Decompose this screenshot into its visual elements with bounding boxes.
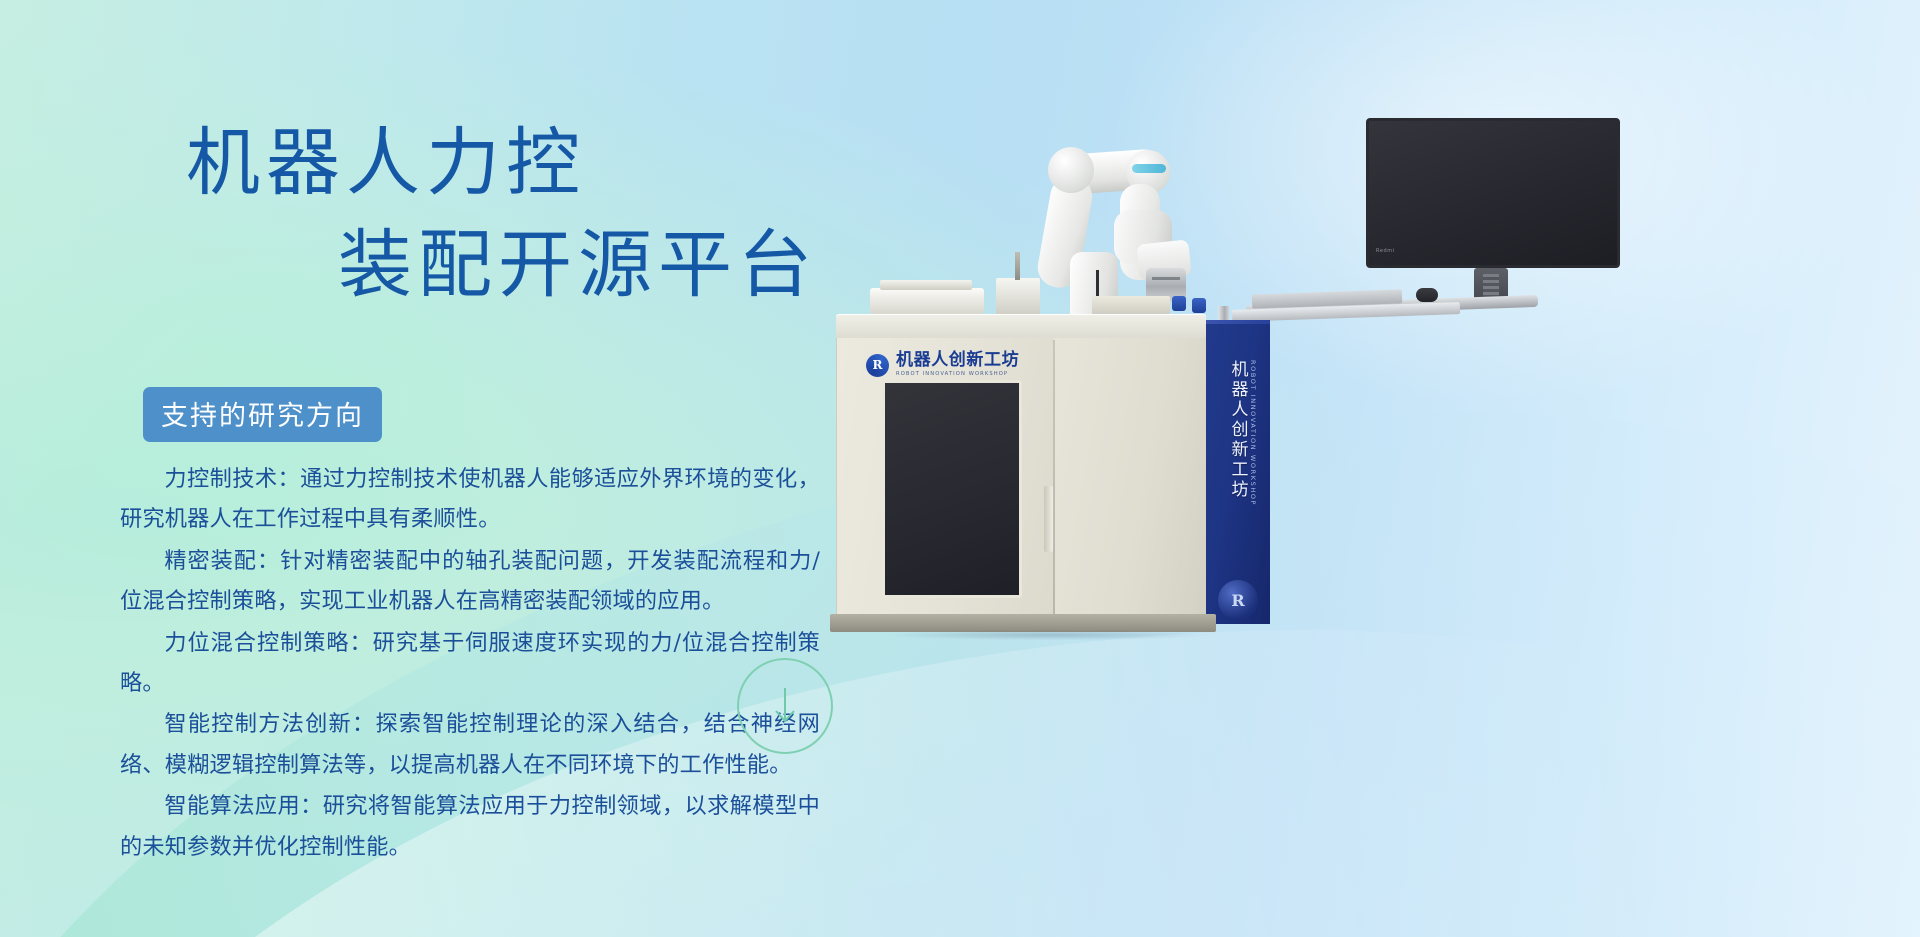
worktop-knob-1 [1172, 296, 1186, 311]
arrow-down-icon [770, 684, 800, 728]
brand-name-cn: 机器人创新工坊 [896, 352, 1019, 369]
headline-line-1: 机器人力控 [186, 112, 946, 214]
cabinet-brand-plate: R 机器人创新工坊 ROBOT INNOVATION WORKSHOP [866, 348, 1041, 382]
research-direction-item-2: 精密装配：针对精密装配中的轴孔装配问题，开发装配流程和力/位混合控制策略，实现工… [120, 541, 820, 622]
monitor-screen [1366, 118, 1620, 268]
cabinet-viewing-window [882, 380, 1022, 598]
brand-name-en: ROBOT INNOVATION WORKSHOP [896, 372, 1019, 377]
cabinet-front-right [1054, 338, 1206, 618]
robot-arm-joint-1 [1048, 147, 1094, 193]
monitor-brand-label: Redmi [1376, 248, 1395, 254]
side-panel-logo-mark: R [1218, 580, 1258, 620]
page-title: 机器人力控 装配开源平台 [186, 112, 946, 316]
worktop-knob-2 [1192, 298, 1206, 313]
scroll-down-button[interactable] [737, 658, 833, 754]
research-direction-item-5: 智能算法应用：研究将智能算法应用于力控制领域，以求解模型中的未知参数并优化控制性… [120, 786, 820, 867]
worktop-fixture-post [996, 278, 1040, 316]
cabinet-door-handle[interactable] [1044, 486, 1053, 552]
robot-arm-blue-ring [1132, 164, 1166, 173]
cabinet-door-seam [1053, 340, 1055, 616]
mouse [1416, 288, 1438, 302]
hero-banner: 机器人力控 装配开源平台 支持的研究方向 力控制技术：通过力控制技术使机器人能够… [0, 0, 1920, 937]
side-panel-brand-en: ROBOT INNOVATION WORKSHOP [1206, 360, 1270, 610]
research-direction-item-3: 力位混合控制策略：研究基于伺服速度环实现的力/位混合控制策略。 [120, 623, 820, 704]
research-directions-list: 力控制技术：通过力控制技术使机器人能够适应外界环境的变化，研究机器人在工作过程中… [120, 459, 820, 868]
headline-line-2: 装配开源平台 [338, 214, 946, 316]
brand-logo-icon: R [866, 354, 889, 377]
cabinet-shadow [830, 628, 1270, 642]
section-badge-wrapper: 支持的研究方向 [143, 387, 382, 442]
research-directions-badge: 支持的研究方向 [143, 387, 382, 442]
research-direction-item-1: 力控制技术：通过力控制技术使机器人能够适应外界环境的变化，研究机器人在工作过程中… [120, 459, 820, 540]
research-direction-item-4: 智能控制方法创新：探索智能控制理论的深入结合，结合神经网络、模糊逻辑控制算法等，… [120, 704, 820, 785]
